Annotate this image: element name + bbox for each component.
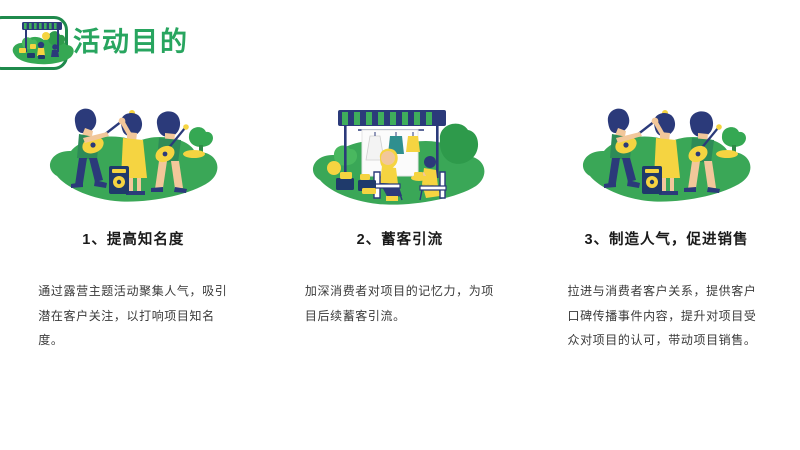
band-performing-illustration xyxy=(33,88,233,210)
objective-column-2: 2、蓄客引流 加深消费者对项目的记忆力，为项目后续蓄客引流。 xyxy=(267,88,534,398)
column-body-text: 通过露营主题活动聚集人气，吸引潜在客户关注，以打响项目知名度。 xyxy=(38,279,228,353)
page-header: 活动目的 xyxy=(0,8,800,70)
column-heading: 3、制造人气，促进销售 xyxy=(584,228,748,249)
camping-market-icon xyxy=(8,14,78,66)
page-title: 活动目的 xyxy=(73,23,189,61)
column-body-text: 拉进与消费者客户关系，提供客户口碑传播事件内容，提升对项目受众对项目的认可，带动… xyxy=(567,279,765,353)
band-performing-illustration xyxy=(566,88,766,210)
objective-column-1: 1、提高知名度 通过露营主题活动聚集人气，吸引潜在客户关注，以打响项目知名度。 xyxy=(0,88,267,398)
column-heading: 2、蓄客引流 xyxy=(357,228,444,249)
market-stall-illustration xyxy=(300,88,500,210)
content-columns: 1、提高知名度 通过露营主题活动聚集人气，吸引潜在客户关注，以打响项目知名度。 xyxy=(0,88,800,398)
objective-column-3: 3、制造人气，促进销售 拉进与消费者客户关系，提供客户口碑传播事件内容，提升对项… xyxy=(533,88,800,398)
column-body-text: 加深消费者对项目的记忆力，为项目后续蓄客引流。 xyxy=(305,279,495,328)
column-heading: 1、提高知名度 xyxy=(82,228,184,249)
